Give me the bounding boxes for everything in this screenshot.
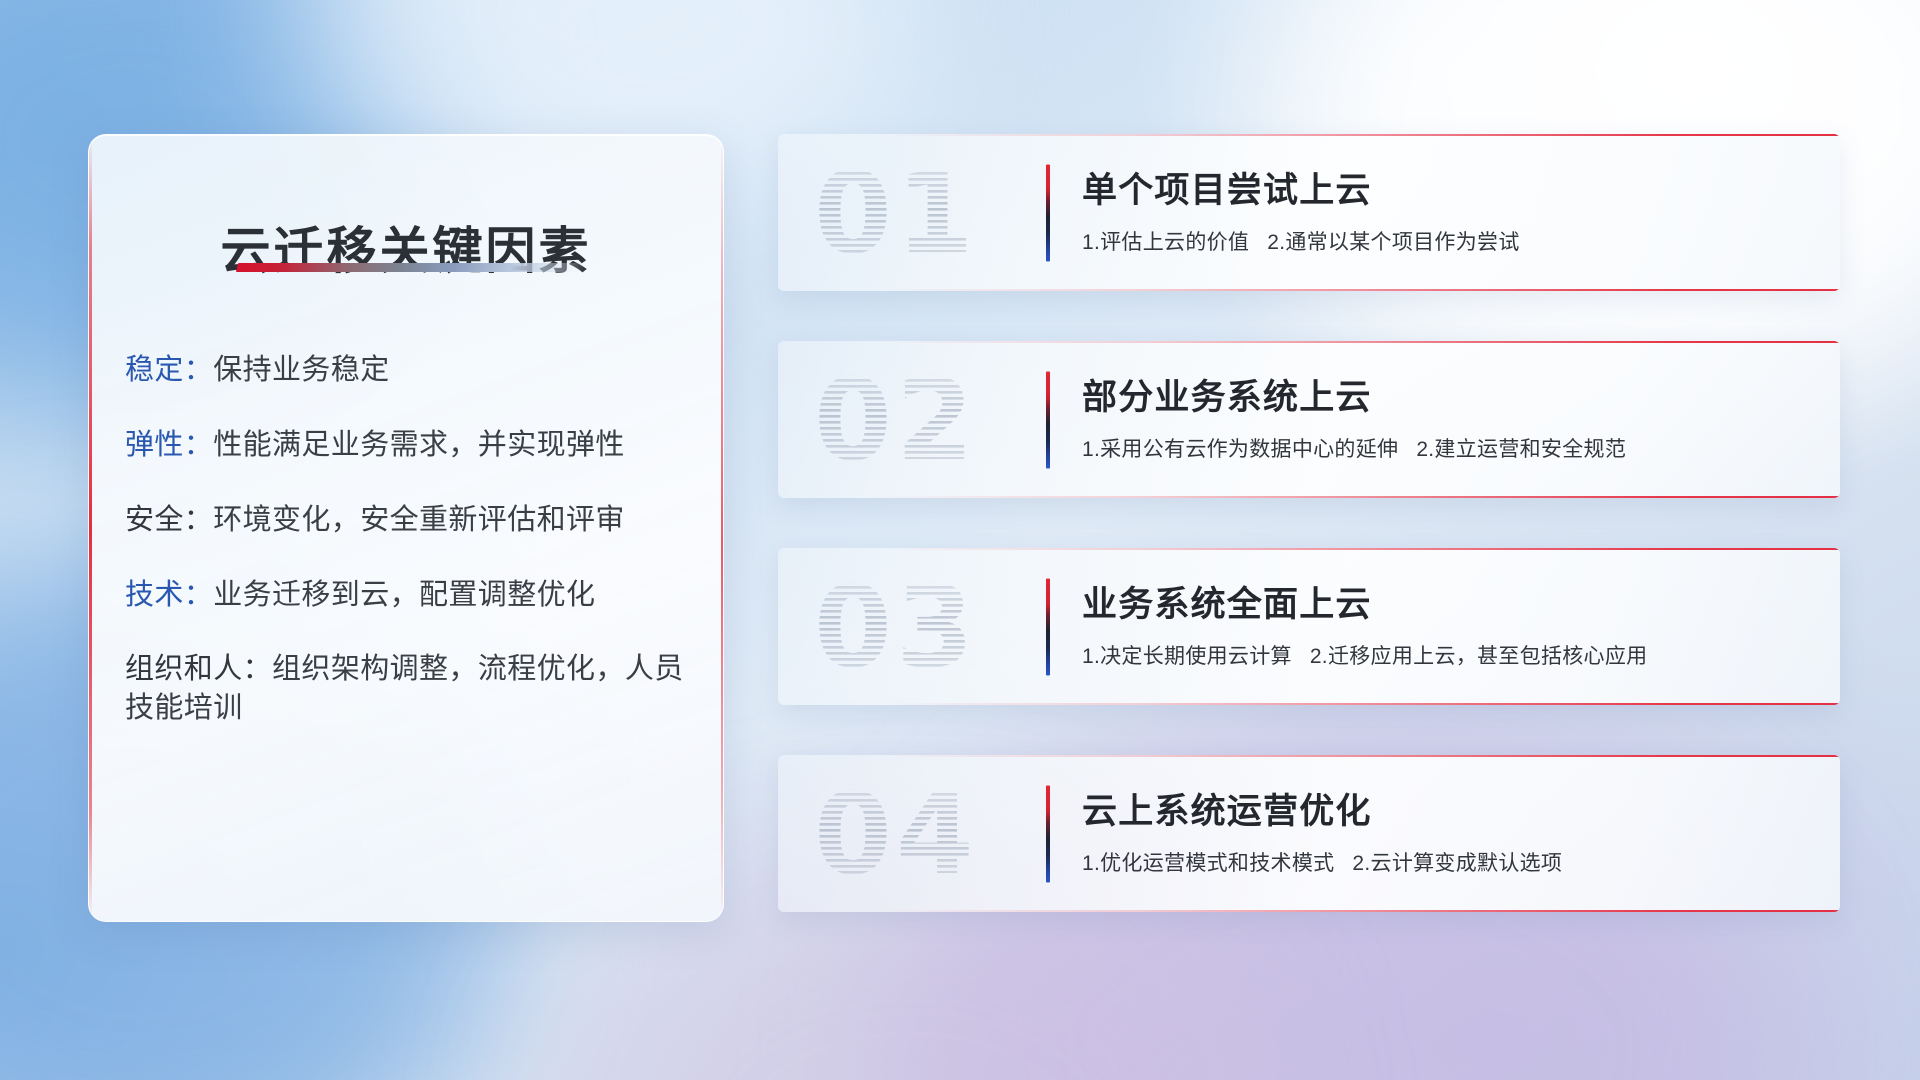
list-item: 组织和人：组织架构调整，流程优化，人员技能培训 <box>125 650 695 728</box>
step-number-striped-icon: 04 <box>812 775 1024 893</box>
step-point-2: 2.云计算变成默认选项 <box>1352 852 1562 875</box>
step-content: 云上系统运营优化 1.优化运营模式和技术模式2.云计算变成默认选项 <box>1082 791 1800 877</box>
slide-canvas: 云迁移关键因素 稳定：保持业务稳定 弹性：性能满足业务需求，并实现弹性 安全：环… <box>0 0 1920 1080</box>
step-point-1: 1.决定长期使用云计算 <box>1082 645 1292 668</box>
step-title: 部分业务系统上云 <box>1082 377 1800 419</box>
step-number-glyph: 03 <box>814 568 978 686</box>
step-content: 业务系统全面上云 1.决定长期使用云计算2.迁移应用上云，甚至包括核心应用 <box>1082 584 1800 670</box>
step-number-striped-icon: 01 <box>812 154 1024 272</box>
list-item-label: 安全： <box>125 504 213 536</box>
step-subtitle: 1.评估上云的价值2.通常以某个项目作为尝试 <box>1082 226 1800 256</box>
step-content: 单个项目尝试上云 1.评估上云的价值2.通常以某个项目作为尝试 <box>1082 170 1800 256</box>
list-item-label: 弹性： <box>125 429 213 461</box>
list-item: 安全：环境变化，安全重新评估和评审 <box>125 501 695 540</box>
step-accent-bar <box>1046 578 1050 675</box>
step-number-glyph: 02 <box>814 361 978 479</box>
step-title: 云上系统运营优化 <box>1082 791 1800 833</box>
step-subtitle: 1.采用公有云作为数据中心的延伸2.建立运营和安全规范 <box>1082 433 1800 463</box>
step-subtitle: 1.优化运营模式和技术模式2.云计算变成默认选项 <box>1082 847 1800 877</box>
step-number-glyph: 01 <box>814 154 978 272</box>
list-item-text: 保持业务稳定 <box>213 354 389 386</box>
step-title: 业务系统全面上云 <box>1082 584 1800 626</box>
list-item: 弹性：性能满足业务需求，并实现弹性 <box>125 426 695 465</box>
step-card[interactable]: 03 业务系统全面上云 1.决定长期使用云计算2.迁移应用上云，甚至包括核心应用 <box>778 548 1840 705</box>
list-item-text: 性能满足业务需求，并实现弹性 <box>213 429 625 461</box>
key-factors-list: 稳定：保持业务稳定 弹性：性能满足业务需求，并实现弹性 安全：环境变化，安全重新… <box>125 351 695 764</box>
step-subtitle: 1.决定长期使用云计算2.迁移应用上云，甚至包括核心应用 <box>1082 640 1800 670</box>
step-point-1: 1.评估上云的价值 <box>1082 231 1249 254</box>
list-item: 稳定：保持业务稳定 <box>125 351 695 390</box>
step-title: 单个项目尝试上云 <box>1082 170 1800 212</box>
step-point-1: 1.采用公有云作为数据中心的延伸 <box>1082 438 1398 461</box>
title-underline-bar <box>236 263 588 272</box>
step-number-glyph: 04 <box>814 775 978 893</box>
step-point-1: 1.优化运营模式和技术模式 <box>1082 852 1334 875</box>
step-number-striped-icon: 02 <box>812 361 1024 479</box>
step-content: 部分业务系统上云 1.采用公有云作为数据中心的延伸2.建立运营和安全规范 <box>1082 377 1800 463</box>
list-item-label: 稳定： <box>125 354 213 386</box>
list-item-text: 业务迁移到云，配置调整优化 <box>213 579 595 611</box>
step-number-striped-icon: 03 <box>812 568 1024 686</box>
step-point-2: 2.建立运营和安全规范 <box>1416 438 1626 461</box>
migration-steps-list: 01 单个项目尝试上云 1.评估上云的价值2.通常以某个项目作为尝试 <box>778 134 1840 962</box>
step-point-2: 2.迁移应用上云，甚至包括核心应用 <box>1310 645 1648 668</box>
step-accent-bar <box>1046 164 1050 261</box>
list-item: 技术：业务迁移到云，配置调整优化 <box>125 576 695 615</box>
step-point-2: 2.通常以某个项目作为尝试 <box>1267 231 1519 254</box>
step-card[interactable]: 04 云上系统运营优化 1.优化运营模式和技术模式2.云计算变成默认选项 <box>778 755 1840 912</box>
step-accent-bar <box>1046 371 1050 468</box>
list-item-text: 环境变化，安全重新评估和评审 <box>213 504 625 536</box>
step-accent-bar <box>1046 785 1050 882</box>
step-card[interactable]: 01 单个项目尝试上云 1.评估上云的价值2.通常以某个项目作为尝试 <box>778 134 1840 291</box>
step-card[interactable]: 02 部分业务系统上云 1.采用公有云作为数据中心的延伸2.建立运营和安全规范 <box>778 341 1840 498</box>
list-item-label: 技术： <box>125 579 213 611</box>
key-factors-panel: 云迁移关键因素 稳定：保持业务稳定 弹性：性能满足业务需求，并实现弹性 安全：环… <box>88 134 724 922</box>
list-item-label: 组织和人： <box>125 653 272 685</box>
